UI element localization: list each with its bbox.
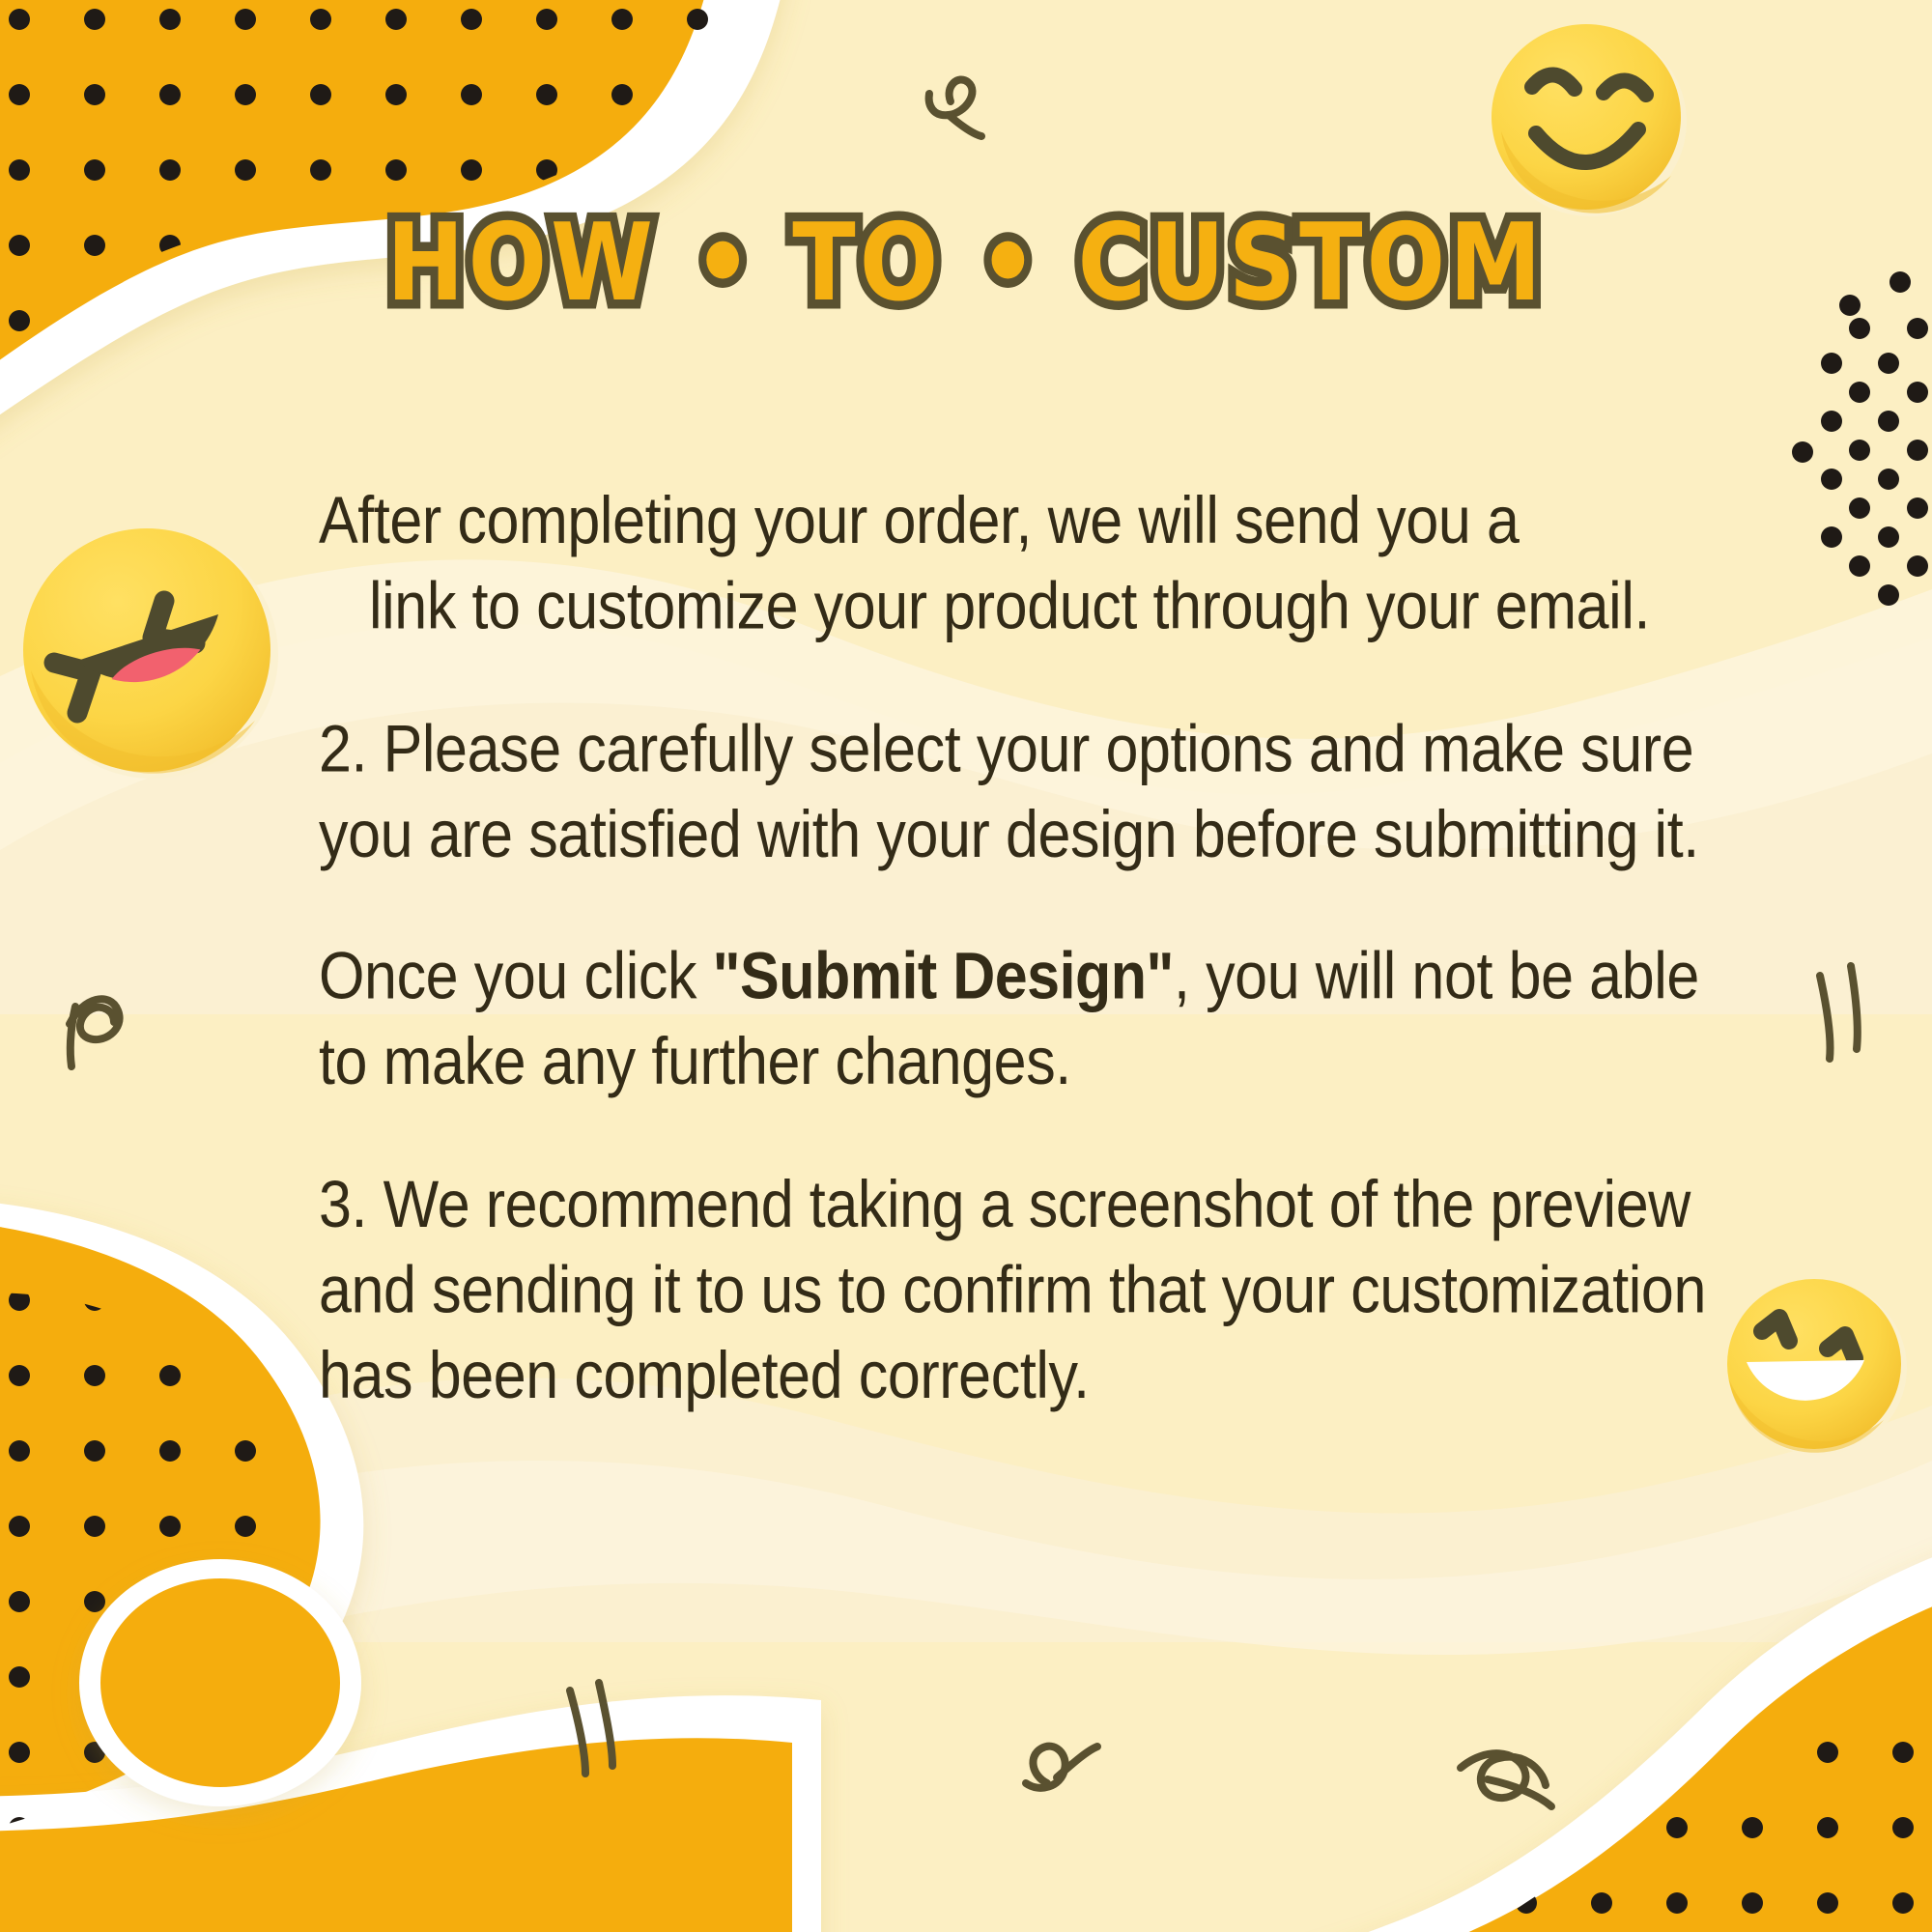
instruction-1-line-1: After completing your order, we will sen… (319, 484, 1519, 557)
instruction-item-3: 3. We recommend taking a screenshot of t… (319, 1162, 1729, 1419)
squiggle-top-center (929, 79, 981, 136)
instruction-item-1: After completing your order, we will sen… (319, 478, 1729, 650)
squiggle-left (70, 999, 120, 1066)
instruction-1-line-2: link to customize your product through y… (319, 564, 1729, 650)
instructions-list: After completing your order, we will sen… (319, 478, 1729, 1475)
squiggle-right (1820, 966, 1858, 1059)
submit-design-emphasis: "Submit Design" (713, 939, 1174, 1012)
squiggle-bottom-left (570, 1683, 612, 1774)
page-title: HOW • TO • CUSTOM (386, 211, 1545, 318)
grinning-face-emoji (1718, 1273, 1932, 1466)
smiling-face-emoji (1476, 8, 1700, 226)
instruction-item-submit-notice: Once you click "Submit Design", you will… (319, 934, 1729, 1106)
title-container: HOW • TO • CUSTOM (0, 211, 1932, 301)
squiggle-bottom-right (1461, 1753, 1551, 1806)
submit-notice-prefix: Once you click (319, 939, 713, 1012)
poster-canvas: HOW • TO • CUSTOM After completing your … (0, 0, 1932, 1932)
instruction-item-2: 2. Please carefully select your options … (319, 706, 1729, 878)
rofl-face-emoji (8, 510, 290, 792)
squiggle-bottom-center (1026, 1747, 1097, 1788)
